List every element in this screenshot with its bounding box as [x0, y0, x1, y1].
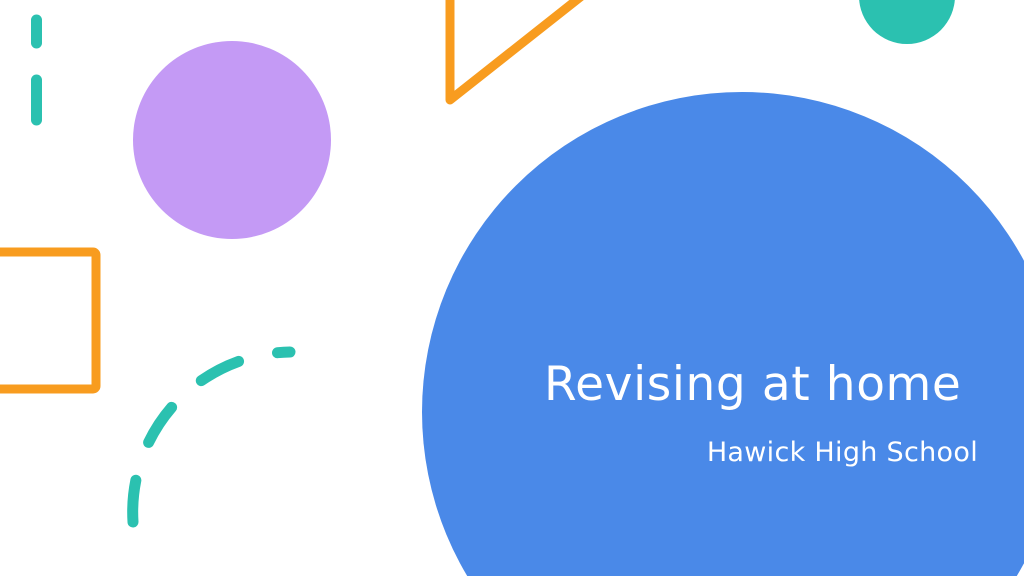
slide-canvas: Revising at home Hawick High School [0, 0, 1024, 576]
blue-circle-icon [422, 92, 1024, 576]
orange-square-outline-icon [0, 252, 96, 389]
teal-circle-icon [859, 0, 955, 44]
decorative-shapes-layer [0, 0, 1024, 576]
purple-circle-icon [133, 41, 331, 239]
teal-dashed-arc-icon [133, 352, 290, 522]
orange-chevron-icon [450, 0, 612, 100]
